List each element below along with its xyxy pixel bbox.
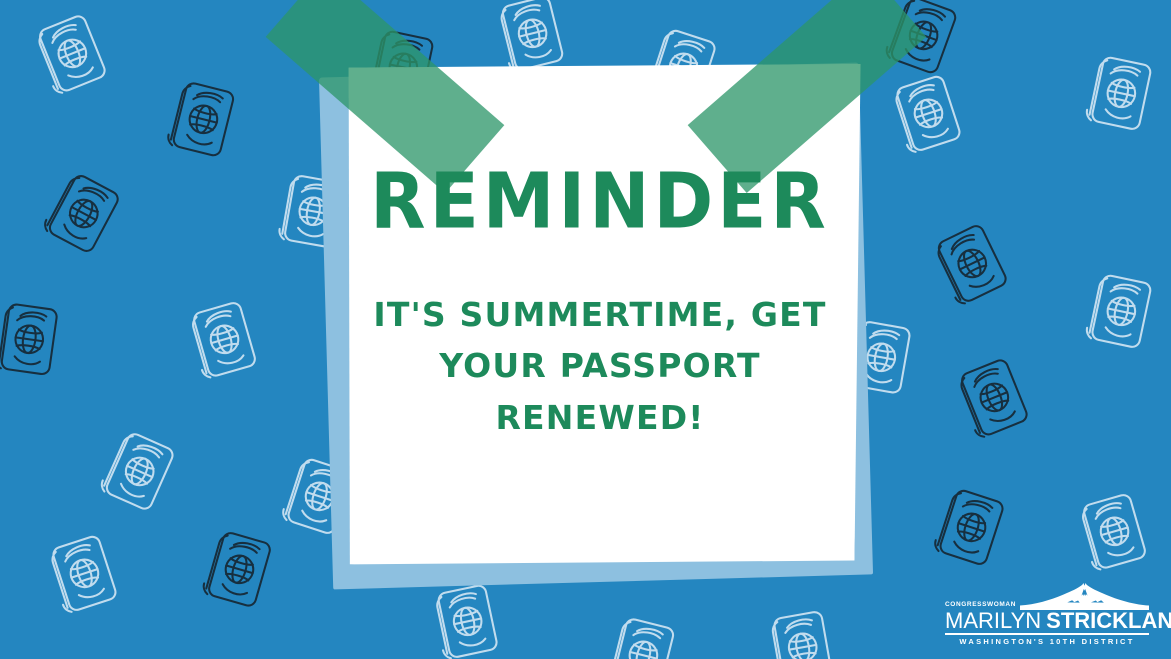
- passport-icon: [172, 288, 278, 394]
- message-block: REMINDER IT'S SUMMERTIME, GET YOUR PASSP…: [350, 165, 850, 443]
- logo-name-row: MARILYN STRICKLAND: [945, 610, 1149, 635]
- passport-icon: [629, 15, 737, 123]
- logo-top-row: CONGRESSWOMAN: [945, 583, 1149, 610]
- passport-icon: [151, 69, 255, 173]
- strickland-logo: CONGRESSWOMAN MARILYN STRICKLAND WASHING…: [945, 583, 1149, 646]
- body-line-1: IT'S SUMMERTIME, GET: [350, 289, 850, 340]
- passport-icon: [265, 444, 373, 552]
- passport-icon: [591, 605, 695, 659]
- passport-reminder-poster: REMINDER IT'S SUMMERTIME, GET YOUR PASSP…: [0, 0, 1171, 659]
- passport-icon: [186, 518, 292, 624]
- passport-icon: [875, 61, 983, 169]
- passport-icon: [917, 475, 1025, 583]
- passport-icon: [17, 0, 129, 111]
- body-line-2: YOUR PASSPORT: [350, 340, 850, 391]
- passport-icon: [753, 599, 853, 659]
- passport-icon: [352, 18, 454, 120]
- body-line-3: RENEWED!: [350, 392, 850, 443]
- logo-district-text: WASHINGTON'S 10TH DISTRICT: [945, 638, 1149, 646]
- headline-text: REMINDER: [350, 163, 850, 239]
- passport-icon: [1062, 480, 1168, 586]
- mountain-icon: [1020, 583, 1149, 610]
- passport-icon: [481, 0, 585, 87]
- passport-icon: [417, 572, 519, 659]
- logo-first-name: MARILYN: [945, 610, 1041, 632]
- passport-icon: [1070, 262, 1171, 364]
- passport-icon: [25, 157, 141, 273]
- passport-icon: [263, 163, 363, 263]
- passport-icon: [31, 521, 139, 629]
- body-text: IT'S SUMMERTIME, GET YOUR PASSPORT RENEW…: [350, 289, 850, 443]
- passport-icon: [939, 343, 1051, 455]
- logo-last-name: STRICKLAND: [1046, 610, 1171, 632]
- passport-icon: [1070, 44, 1171, 146]
- passport-icon: [0, 292, 78, 389]
- passport-icon: [916, 208, 1031, 323]
- passport-icon: [82, 416, 196, 530]
